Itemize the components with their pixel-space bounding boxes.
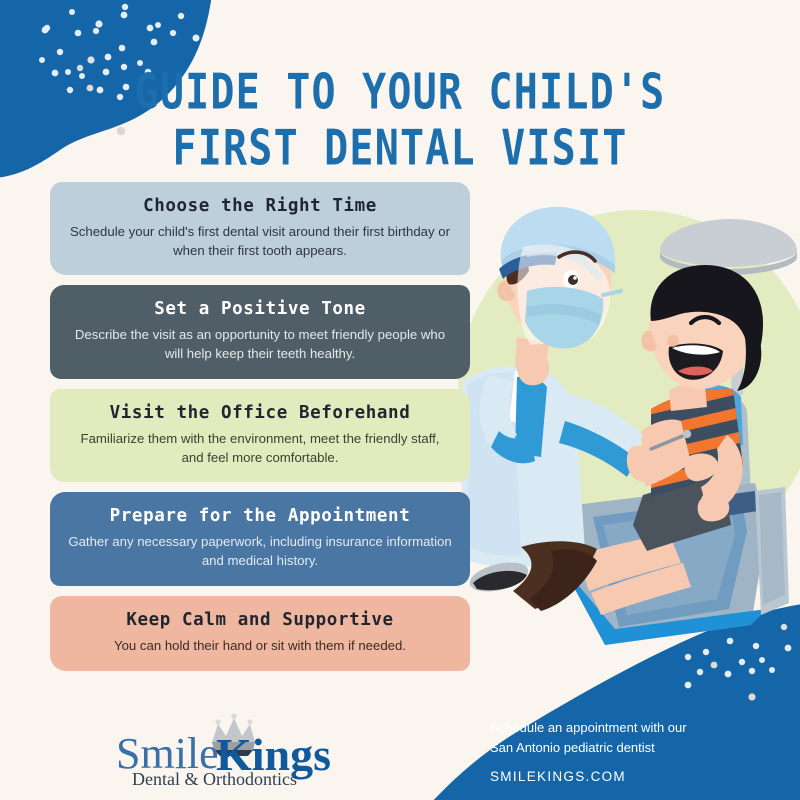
tips-list: Choose the Right Time Schedule your chil… bbox=[50, 182, 470, 681]
tip-title: Set a Positive Tone bbox=[68, 299, 452, 319]
tip-body: Gather any necessary paperwork, includin… bbox=[68, 533, 452, 570]
tip-card-keep-calm-and-supportive[interactable]: Keep Calm and Supportive You can hold th… bbox=[50, 596, 470, 671]
footer-line-1: Schedule an appointment with our bbox=[490, 718, 790, 738]
title-line-2: First Dental Visit bbox=[0, 122, 800, 177]
tip-card-choose-the-right-time[interactable]: Choose the Right Time Schedule your chil… bbox=[50, 182, 470, 275]
footer-website-url[interactable]: SMILEKINGS.COM bbox=[490, 769, 790, 784]
tip-title: Choose the Right Time bbox=[68, 196, 452, 216]
tip-card-prepare-for-the-appointment[interactable]: Prepare for the Appointment Gather any n… bbox=[50, 492, 470, 585]
footer-cta: Schedule an appointment with our San Ant… bbox=[490, 718, 790, 784]
tip-body: Schedule your child's first dental visit… bbox=[68, 223, 452, 260]
tip-title: Visit the Office Beforehand bbox=[68, 403, 452, 423]
page-title: Guide to Your Child's First Dental Visit bbox=[0, 66, 800, 167]
logo-graphic: Smile Kings Dental & Orthodontics bbox=[112, 712, 362, 790]
tip-card-visit-the-office-beforehand[interactable]: Visit the Office Beforehand Familiarize … bbox=[50, 389, 470, 482]
tip-title: Keep Calm and Supportive bbox=[68, 610, 452, 630]
tip-title: Prepare for the Appointment bbox=[68, 506, 452, 526]
tip-card-set-a-positive-tone[interactable]: Set a Positive Tone Describe the visit a… bbox=[50, 285, 470, 378]
smile-kings-logo[interactable]: Smile Kings Dental & Orthodontics bbox=[112, 712, 362, 790]
logo-tagline: Dental & Orthodontics bbox=[132, 769, 297, 789]
tip-body: Familiarize them with the environment, m… bbox=[68, 430, 452, 467]
tip-body: You can hold their hand or sit with them… bbox=[68, 637, 452, 656]
tip-body: Describe the visit as an opportunity to … bbox=[68, 326, 452, 363]
infographic-poster: Guide to Your Child's First Dental Visit… bbox=[0, 0, 800, 800]
title-line-1: Guide to Your Child's bbox=[0, 66, 800, 121]
footer-line-2: San Antonio pediatric dentist bbox=[490, 738, 790, 758]
illustration-dentist-and-child bbox=[455, 195, 800, 665]
